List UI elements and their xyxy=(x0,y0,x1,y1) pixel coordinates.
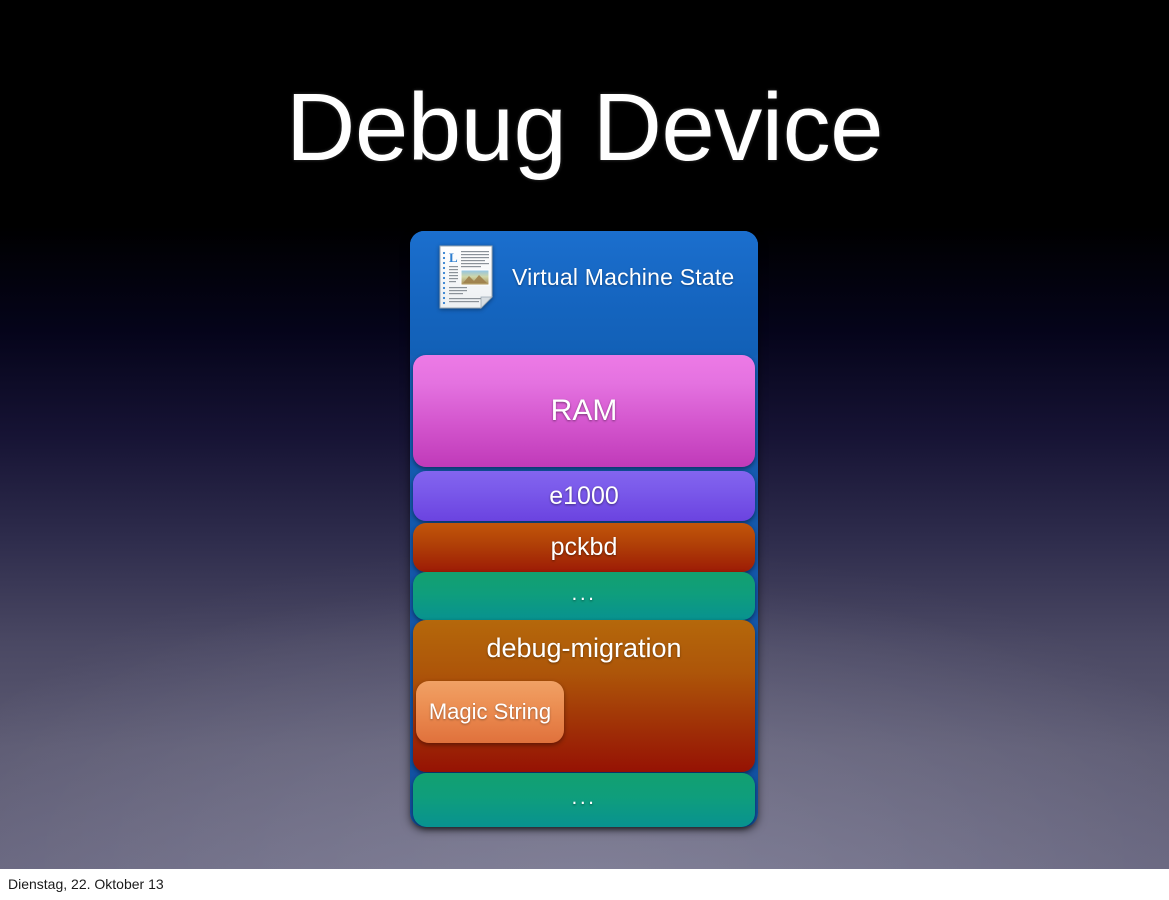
stack-item-debug-migration[interactable]: debug-migration Magic String xyxy=(413,620,755,772)
magic-string-label: Magic String xyxy=(416,699,564,725)
stack-item-ellipsis-1[interactable]: ... xyxy=(413,572,755,620)
stack-item-debug-migration-label: debug-migration xyxy=(413,633,755,664)
slide-root: Debug Device xyxy=(0,0,1169,900)
stack-item-ellipsis-2[interactable]: ... xyxy=(413,773,755,827)
document-icon: L xyxy=(438,245,494,309)
stack-item-ram[interactable]: RAM xyxy=(413,355,755,467)
vm-state-label: Virtual Machine State xyxy=(512,264,734,291)
device-stack-container: L xyxy=(410,231,758,827)
stack-item-virtual-machine-state[interactable]: L xyxy=(410,231,758,356)
vm-state-row: L xyxy=(438,245,734,309)
page-title: Debug Device xyxy=(0,78,1169,179)
stack-item-pckbd[interactable]: pckbd xyxy=(413,523,755,572)
stack-item-ellipsis-2-label: ... xyxy=(413,792,755,805)
stack-item-ram-label: RAM xyxy=(413,394,755,428)
magic-string-box[interactable]: Magic String xyxy=(416,681,564,743)
footer-date: Dienstag, 22. Oktober 13 xyxy=(8,876,164,892)
footer-bar: Dienstag, 22. Oktober 13 xyxy=(0,869,1169,900)
stack-item-e1000-label: e1000 xyxy=(413,482,755,511)
stack-item-pckbd-label: pckbd xyxy=(413,533,755,562)
device-stack: L xyxy=(410,231,758,827)
svg-text:L: L xyxy=(449,250,458,265)
slide-canvas: Debug Device xyxy=(0,0,1169,869)
stack-item-e1000[interactable]: e1000 xyxy=(413,471,755,521)
stack-item-ellipsis-1-label: ... xyxy=(413,588,755,601)
